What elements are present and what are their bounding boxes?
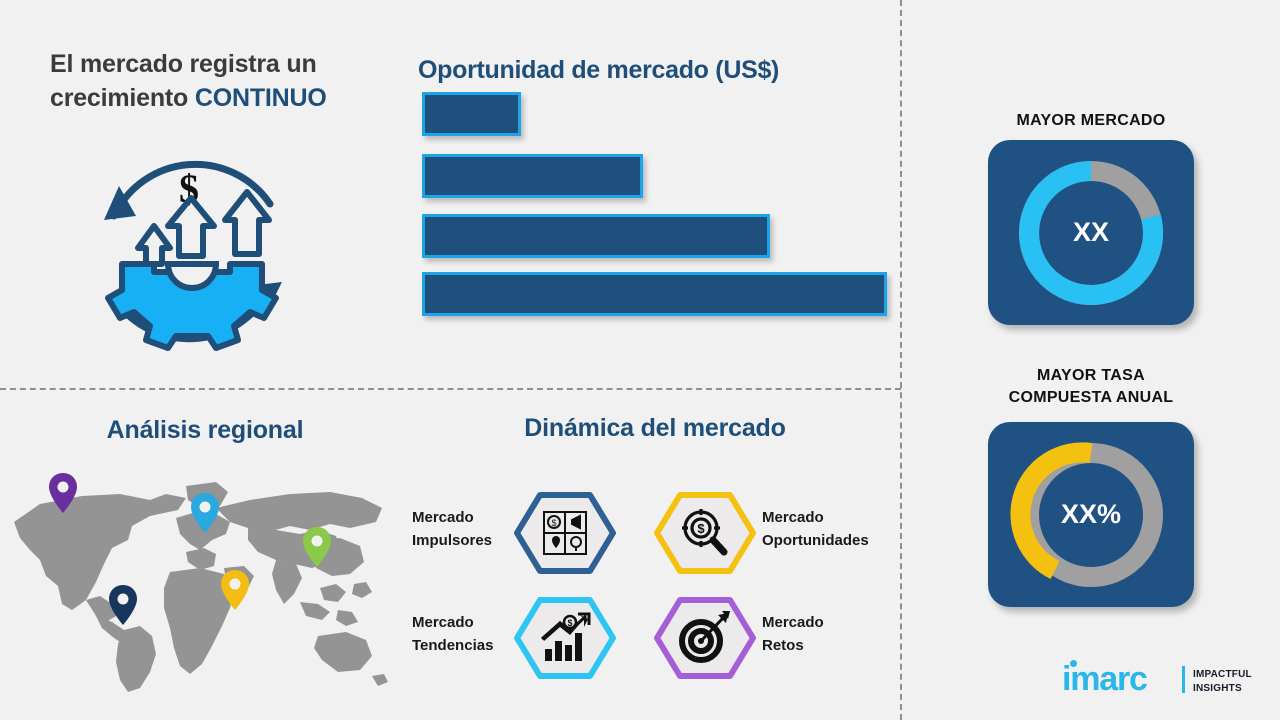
largest-market-card: XX [988,140,1194,325]
hexagon-market-challenges [654,597,756,679]
imarc-divider [1182,666,1185,693]
imarc-dot-icon [1070,660,1077,667]
imarc-wordmark: imarc [1062,662,1147,696]
hexagon-market-drivers: $ [514,492,616,574]
highest-cagr-card: XX% [988,422,1194,607]
infographic-canvas: El mercado registra un crecimiento CONTI… [0,0,1280,720]
largest-market-label: MAYOR MERCADO [902,110,1280,132]
opportunity-bar-chart [422,92,892,352]
opportunity-section: Oportunidad de mercado (US$) [410,0,900,388]
dynamics-title: Dinámica del mercado [410,414,900,443]
regional-section: Análisis regional [0,388,410,720]
growth-gear-arrows-icon: $ [78,138,306,363]
table-row [422,214,770,258]
svg-text:$: $ [697,521,705,536]
market-challenges-label: Mercado Retos [762,611,824,658]
vertical-divider [900,0,902,720]
world-map [0,464,400,694]
market-opportunities-label: Mercado Oportunidades [762,506,869,553]
dynamics-section: Dinámica del mercado Mercado Impulsores … [410,388,900,720]
highest-cagr-label: MAYOR TASA COMPUESTA ANUAL [902,365,1280,408]
highest-cagr-value: XX% [988,422,1194,607]
market-trends-label: Mercado Tendencias [412,611,493,658]
regional-title: Análisis regional [0,416,410,445]
dynamics-item-market-challenges[interactable]: Mercado Retos [650,593,880,683]
growth-title-highlight: CONTINUO [195,84,327,112]
growth-section: El mercado registra un crecimiento CONTI… [0,0,410,388]
hexagon-market-opportunities: $ [654,492,756,574]
pin-asia [302,526,332,568]
dynamics-item-market-trends[interactable]: Mercado Tendencias $ [410,593,640,683]
dynamics-item-market-opportunities[interactable]: $ Mercado Oportunidades [650,488,880,578]
svg-text:$: $ [567,618,572,628]
largest-market-value: XX [988,140,1194,325]
pin-north-america [48,472,78,514]
pin-south-america [108,584,138,626]
pin-europe [190,492,220,534]
imarc-logo: imarc IMPACTFUL INSIGHTS [1062,660,1258,702]
market-drivers-label: Mercado Impulsores [412,506,492,553]
table-row [422,92,521,136]
dynamics-item-market-drivers[interactable]: Mercado Impulsores $ [410,488,640,578]
opportunity-title: Oportunidad de mercado (US$) [418,56,898,85]
svg-text:$: $ [551,518,556,528]
table-row [422,272,887,316]
horizontal-divider [0,388,901,390]
growth-title-line2-plain: crecimiento [50,84,195,112]
growth-title-line1: El mercado registra un [50,50,317,78]
imarc-tagline: IMPACTFUL INSIGHTS [1193,668,1252,695]
hexagon-market-trends: $ [514,597,616,679]
kpi-rail: MAYOR MERCADO XX MAYOR TASA COMPUESTA AN… [902,0,1280,720]
pin-middle-east [220,569,250,611]
growth-title: El mercado registra un crecimiento CONTI… [50,48,390,116]
table-row [422,154,643,198]
